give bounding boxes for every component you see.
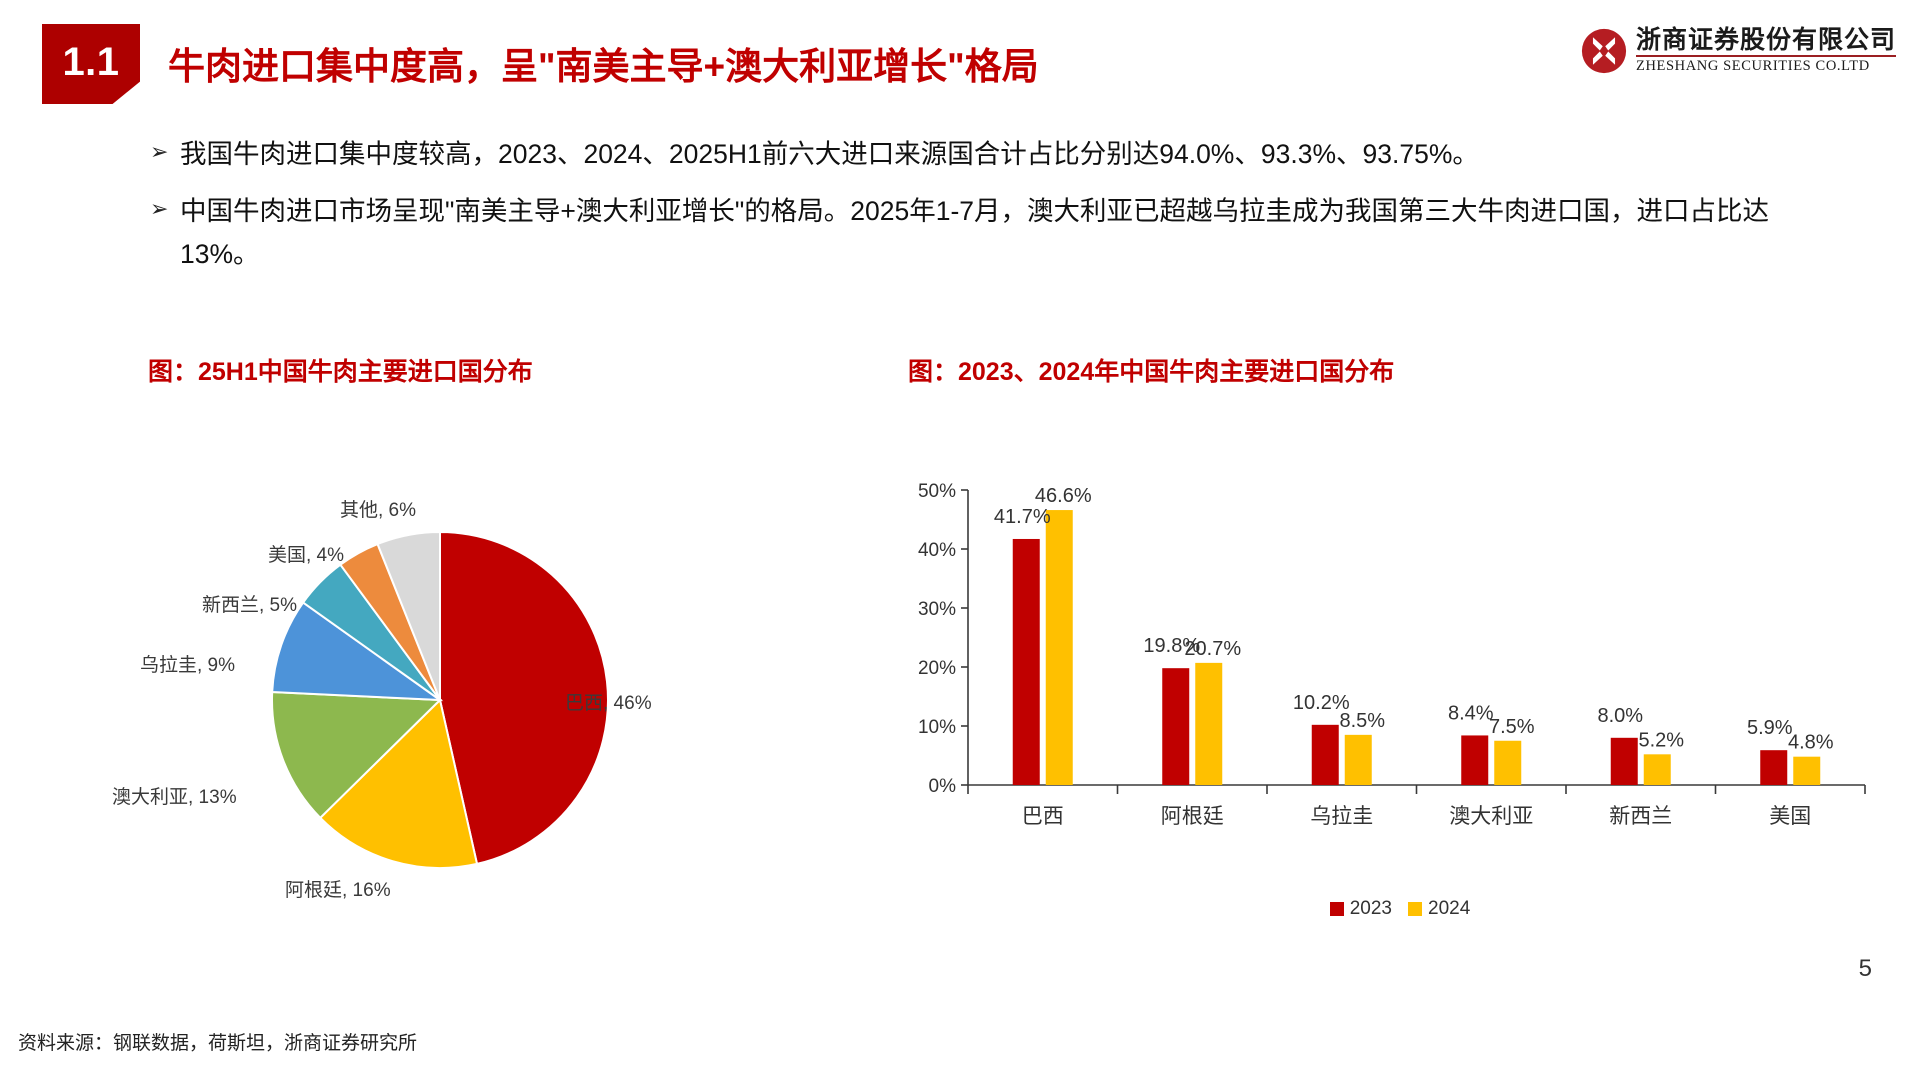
bar xyxy=(1793,757,1820,785)
pie-slice-label: 阿根廷, 16% xyxy=(285,875,391,902)
bar-chart-bars xyxy=(1013,510,1821,785)
pie-slice-label: 其他, 6% xyxy=(340,495,416,522)
bullet-item: ➢ 我国牛肉进口集中度较高，2023、2024、2025H1前六大进口来源国合计… xyxy=(150,133,1800,176)
legend-label: 2024 xyxy=(1428,898,1470,920)
y-axis-tick-label: 30% xyxy=(918,599,956,620)
y-axis-tick-label: 40% xyxy=(918,540,956,561)
x-axis-category-label: 澳大利亚 xyxy=(1449,805,1533,828)
bar-value-label: 46.6% xyxy=(1035,485,1092,507)
bar xyxy=(1611,738,1638,785)
legend-item: 2023 xyxy=(1330,898,1392,920)
bar-value-label: 20.7% xyxy=(1184,638,1241,660)
logo-name-en: ZHESHANG SECURITIES CO.LTD xyxy=(1636,59,1896,74)
x-axis-category-label: 巴西 xyxy=(1022,805,1064,828)
y-axis-tick-label: 50% xyxy=(918,481,956,502)
bar-chart-category-labels: 巴西阿根廷乌拉圭澳大利亚新西兰美国 xyxy=(1022,805,1812,828)
bar-value-label: 7.5% xyxy=(1489,716,1535,738)
bar-value-label: 8.4% xyxy=(1448,702,1494,724)
source-note: 资料来源：钢联数据，荷斯坦，浙商证券研究所 xyxy=(18,1028,417,1055)
bar xyxy=(1312,725,1339,785)
legend-label: 2023 xyxy=(1350,898,1392,920)
bar xyxy=(1644,754,1671,785)
legend-swatch xyxy=(1330,902,1344,916)
x-axis-category-label: 阿根廷 xyxy=(1161,805,1224,828)
bar-value-label: 5.2% xyxy=(1638,729,1684,751)
legend-swatch xyxy=(1408,902,1422,916)
bar-chart-title: 图：2023、2024年中国牛肉主要进口国分布 xyxy=(908,352,1394,388)
bar xyxy=(1345,735,1372,785)
bar-chart: 0%10%20%30%40%50% 41.7%46.6%19.8%20.7%10… xyxy=(900,480,1900,940)
y-axis-tick-label: 10% xyxy=(918,717,956,738)
bullet-item: ➢ 中国牛肉进口市场呈现"南美主导+澳大利亚增长"的格局。2025年1-7月，澳… xyxy=(150,190,1800,276)
section-number-badge: 1.1 xyxy=(42,24,140,104)
logo-name-cn: 浙商证券股份有限公司 xyxy=(1636,27,1896,54)
y-axis-tick-label: 0% xyxy=(929,776,957,797)
logo-text-block: 浙商证券股份有限公司 ZHESHANG SECURITIES CO.LTD xyxy=(1636,27,1896,74)
pie-chart: 巴西, 46%阿根廷, 16%澳大利亚, 13%乌拉圭, 9%新西兰, 5%美国… xyxy=(120,470,880,930)
bar xyxy=(1461,735,1488,785)
bar-value-label: 5.9% xyxy=(1747,717,1793,739)
pie-slice-label: 美国, 4% xyxy=(268,540,344,567)
bullet-text: 我国牛肉进口集中度较高，2023、2024、2025H1前六大进口来源国合计占比… xyxy=(180,133,1479,176)
zheshang-logo-icon xyxy=(1581,28,1627,74)
bar-chart-legend: 20232024 xyxy=(900,898,1900,920)
pie-slices xyxy=(272,532,608,868)
bullet-arrow-icon: ➢ xyxy=(150,133,180,173)
x-axis-category-label: 美国 xyxy=(1769,805,1811,828)
bar xyxy=(1494,741,1521,785)
pie-chart-title: 图：25H1中国牛肉主要进口国分布 xyxy=(148,352,533,388)
legend-item: 2024 xyxy=(1408,898,1470,920)
bar-value-label: 41.7% xyxy=(994,506,1051,528)
pie-chart-svg xyxy=(120,470,880,930)
bar-chart-svg: 0%10%20%30%40%50% 41.7%46.6%19.8%20.7%10… xyxy=(900,480,1900,895)
bullet-list: ➢ 我国牛肉进口集中度较高，2023、2024、2025H1前六大进口来源国合计… xyxy=(150,133,1800,290)
bar xyxy=(1013,539,1040,785)
logo-divider xyxy=(1636,55,1896,57)
company-logo: 浙商证券股份有限公司 ZHESHANG SECURITIES CO.LTD xyxy=(1581,20,1896,82)
bar-value-label: 8.5% xyxy=(1339,710,1385,732)
bar xyxy=(1162,668,1189,785)
pie-slice-label: 乌拉圭, 9% xyxy=(140,650,235,677)
bar xyxy=(1195,663,1222,785)
pie-slice-label: 新西兰, 5% xyxy=(202,590,297,617)
slide-header: 1.1 牛肉进口集中度高，呈"南美主导+澳大利亚增长"格局 浙商证券股份有限公司… xyxy=(0,0,1920,120)
bullet-arrow-icon: ➢ xyxy=(150,190,180,230)
bar xyxy=(1046,510,1073,785)
page-title: 牛肉进口集中度高，呈"南美主导+澳大利亚增长"格局 xyxy=(168,36,1039,90)
pie-slice-label: 澳大利亚, 13% xyxy=(112,782,237,809)
page-number: 5 xyxy=(1859,955,1872,983)
bar-value-label: 4.8% xyxy=(1788,732,1834,754)
x-axis-category-label: 乌拉圭 xyxy=(1310,805,1373,828)
bullet-text: 中国牛肉进口市场呈现"南美主导+澳大利亚增长"的格局。2025年1-7月，澳大利… xyxy=(180,190,1800,276)
bar-value-label: 8.0% xyxy=(1597,705,1643,727)
section-number-label: 1.1 xyxy=(62,42,119,82)
bar xyxy=(1760,750,1787,785)
pie-slice-label: 巴西, 46% xyxy=(565,688,652,715)
bar-chart-value-labels: 41.7%46.6%19.8%20.7%10.2%8.5%8.4%7.5%8.0… xyxy=(994,485,1834,754)
y-axis-tick-label: 20% xyxy=(918,658,956,679)
x-axis-category-label: 新西兰 xyxy=(1609,805,1672,828)
